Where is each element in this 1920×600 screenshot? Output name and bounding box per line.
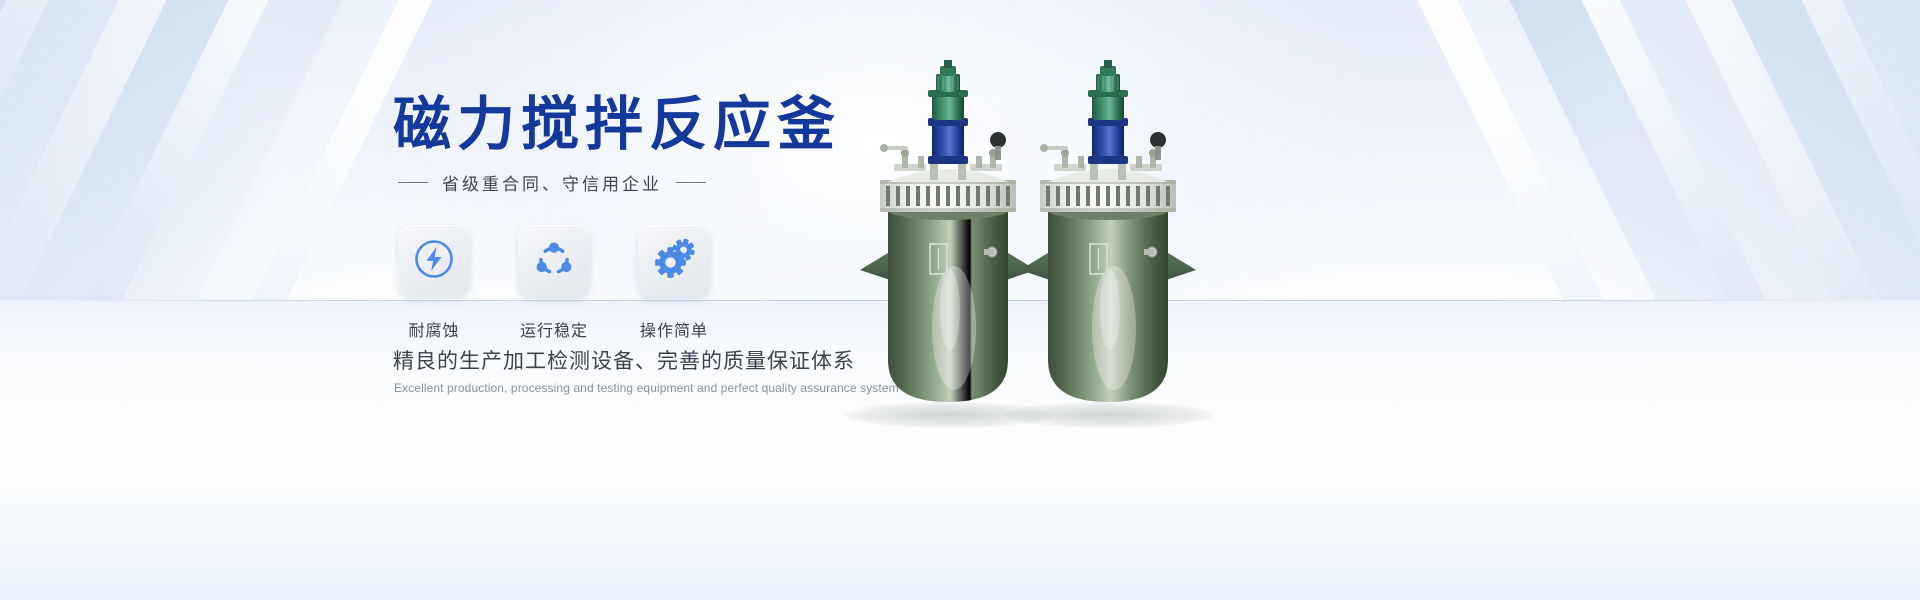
product-banner: 磁力搅拌反应釜 省级重合同、守信用企业 耐腐蚀: [0, 0, 1920, 600]
feature-list: 耐腐蚀: [395, 225, 713, 341]
feature-icon-box: [398, 225, 470, 297]
motor-housing: [932, 94, 964, 120]
lightning-circle-icon: [413, 238, 455, 285]
feature-icon-box: [638, 225, 710, 297]
feature-label: 操作简单: [635, 317, 713, 341]
banner-subtitle: 省级重合同、守信用企业: [398, 170, 706, 195]
feature-item-simple-operation[interactable]: 操作简单: [635, 225, 713, 341]
pressure-gauge: [990, 132, 1006, 148]
reactor-unit: [858, 60, 1038, 430]
share-nodes-icon: [533, 238, 575, 285]
motor-housing: [1092, 94, 1124, 120]
tagline-chinese: 精良的生产加工检测设备、完善的质量保证体系: [393, 345, 855, 375]
background-wall-right: [1500, 0, 1920, 330]
background-wall-left: [0, 0, 380, 330]
banner-title: 磁力搅拌反应釜: [393, 95, 841, 153]
feature-item-corrosion-resistant[interactable]: 耐腐蚀: [395, 225, 473, 341]
feature-icon-box: [518, 225, 590, 297]
subtitle-text: 省级重合同、守信用企业: [442, 170, 662, 195]
feature-item-stable-operation[interactable]: 运行稳定: [515, 225, 593, 341]
gears-icon: [652, 237, 696, 286]
reactor-unit: [1018, 60, 1198, 430]
pressure-gauge: [1150, 132, 1166, 148]
subtitle-rule-left: [398, 182, 428, 183]
product-image-area: [820, 0, 1270, 600]
feature-label: 运行稳定: [515, 317, 593, 341]
subtitle-rule-right: [676, 182, 706, 183]
feature-label: 耐腐蚀: [395, 317, 473, 341]
